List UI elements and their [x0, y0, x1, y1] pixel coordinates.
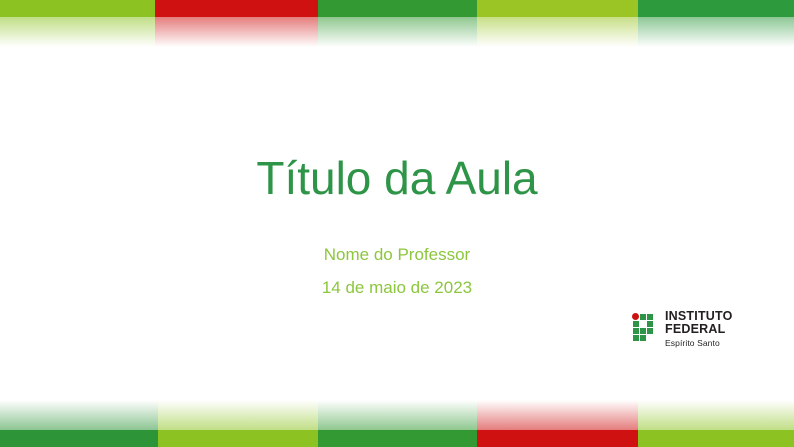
ifes-square-icon: [647, 314, 653, 320]
ifes-square-icon: [647, 321, 653, 327]
ifes-square-icon: [633, 328, 639, 334]
subtitle-block: Nome do Professor 14 de maio de 2023: [0, 238, 794, 304]
institution-logo: INSTITUTO FEDERAL Espírito Santo: [633, 311, 768, 347]
institution-logo-text: INSTITUTO FEDERAL Espírito Santo: [665, 310, 768, 349]
presentation-date: 14 de maio de 2023: [0, 271, 794, 304]
presenter-name: Nome do Professor: [0, 238, 794, 271]
presentation-title-slide: Título da Aula Nome do Professor 14 de m…: [0, 0, 794, 447]
institution-campus: Espírito Santo: [665, 338, 768, 348]
ifes-red-dot-icon: [632, 313, 639, 320]
ifes-grid-icon: [633, 314, 659, 345]
ifes-square-icon: [633, 335, 639, 341]
ifes-square-icon: [647, 328, 653, 334]
ifes-square-icon: [640, 328, 646, 334]
slide-content: Título da Aula Nome do Professor 14 de m…: [0, 0, 794, 447]
page-title: Título da Aula: [0, 152, 794, 205]
ifes-square-icon: [640, 335, 646, 341]
ifes-square-icon: [633, 321, 639, 327]
bottom-bar-segment-dark-green-1: [0, 430, 158, 447]
bottom-bar-segment-light-green-2: [638, 430, 794, 447]
bottom-bar-segment-light-green-1: [158, 430, 318, 447]
ifes-square-icon: [640, 314, 646, 320]
bottom-bar-segment-dark-green-2: [318, 430, 477, 447]
institution-name: INSTITUTO FEDERAL: [665, 310, 768, 338]
bottom-color-bar: [0, 430, 794, 447]
bottom-bar-segment-red: [477, 430, 638, 447]
